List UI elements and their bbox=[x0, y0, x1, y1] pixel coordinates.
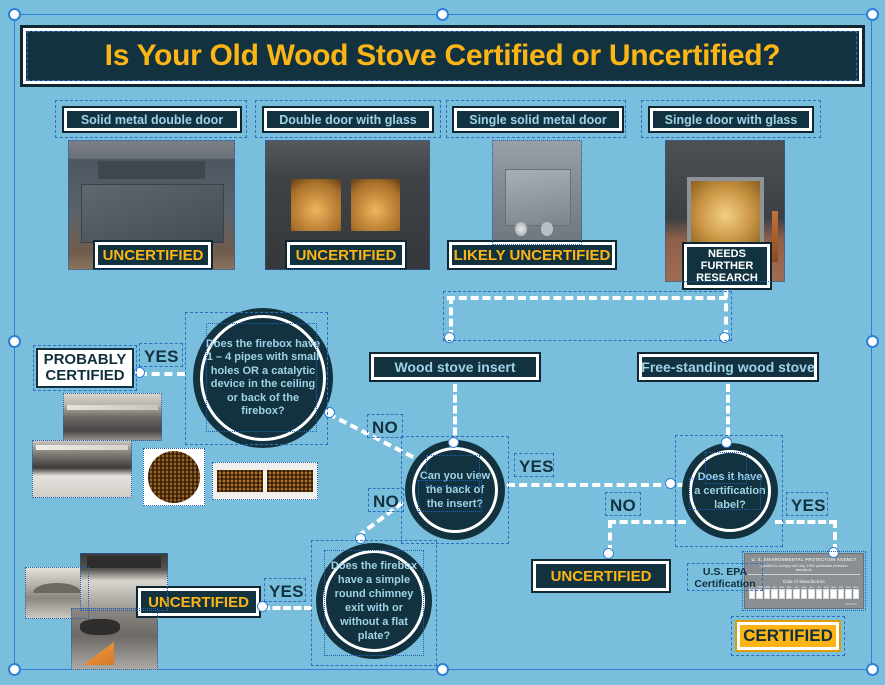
stove-card-header-1: Solid metal double door bbox=[62, 106, 242, 133]
epa-date-title: Date of Manufacture bbox=[745, 575, 863, 586]
epa-caption: U.S. EPA Certification bbox=[690, 566, 760, 590]
node-free-standing-stove: Free-standing wood stove bbox=[637, 352, 819, 382]
verdict-badge-2: UNCERTIFIED bbox=[285, 240, 407, 270]
firebox-photo-ceiling bbox=[63, 393, 162, 441]
question-chimney-exit: Does the firebox have a simple round chi… bbox=[316, 543, 432, 659]
selection-handle[interactable] bbox=[866, 335, 879, 348]
stove-card-header-4: Single door with glass bbox=[648, 106, 814, 133]
connector-node[interactable] bbox=[448, 437, 459, 448]
connector-node[interactable] bbox=[719, 332, 730, 343]
branch-label-firebox-no: NO bbox=[372, 418, 398, 438]
connector-research-left bbox=[447, 296, 727, 300]
outcome-uncertified-nolabel: UNCERTIFIED bbox=[531, 559, 671, 593]
branch-label-insert-no: NO bbox=[373, 492, 399, 512]
epa-agency-line: U. S. ENVIRONMENTAL PROTECTION AGENCY bbox=[745, 554, 863, 562]
verdict-badge-4: NEEDS FURTHER RESEARCH bbox=[682, 242, 772, 290]
outcome-certified: CERTIFIED bbox=[735, 620, 841, 652]
connector-node[interactable] bbox=[355, 533, 366, 544]
selection-handle[interactable] bbox=[436, 8, 449, 21]
selection-handle[interactable] bbox=[8, 663, 21, 676]
selection-handle[interactable] bbox=[866, 8, 879, 21]
question-view-back-insert: Can you view the back of the insert? bbox=[405, 440, 505, 540]
epa-month-cell: Feb bbox=[779, 586, 785, 599]
stove-photo-3 bbox=[492, 140, 582, 245]
connector-yes-probably bbox=[139, 372, 185, 376]
branch-label-cert-no: NO bbox=[610, 496, 636, 516]
epa-month-cell: Dec bbox=[853, 586, 859, 599]
selection-handle[interactable] bbox=[8, 8, 21, 21]
page-title-bar: Is Your Old Wood Stove Certified or Unce… bbox=[20, 25, 865, 87]
outcome-probably-certified: PROBABLY CERTIFIED bbox=[36, 348, 134, 388]
connector-chimney-yes bbox=[262, 606, 312, 610]
verdict-badge-1: UNCERTIFIED bbox=[93, 240, 213, 270]
epa-footer: PHASE II bbox=[745, 599, 863, 606]
stove-card-header-2: Double door with glass bbox=[262, 106, 434, 133]
epa-month-cell: Jul bbox=[816, 586, 822, 599]
connector-node[interactable] bbox=[665, 478, 676, 489]
epa-month-cell: Mar bbox=[786, 586, 792, 599]
connector-node[interactable] bbox=[134, 367, 145, 378]
epa-month-cell: May bbox=[801, 586, 807, 599]
epa-month-grid: 199319941995JanFebMarAprMayJunJulAugSepO… bbox=[745, 586, 863, 599]
epa-standard-line: Certified to comply with July, 1990 part… bbox=[748, 562, 860, 575]
verdict-badge-3: LIKELY UNCERTIFIED bbox=[447, 240, 617, 270]
firebox-photo-back bbox=[32, 440, 132, 498]
question-firebox-pipes: Does the firebox have 1 – 4 pipes with s… bbox=[193, 308, 333, 448]
infographic-canvas: Is Your Old Wood Stove Certified or Unce… bbox=[0, 0, 885, 685]
epa-month-cell: 1995 bbox=[764, 586, 770, 599]
branch-label-firebox-yes: YES bbox=[144, 347, 179, 367]
selection-handle[interactable] bbox=[436, 663, 449, 676]
connector-node[interactable] bbox=[444, 332, 455, 343]
connector-node[interactable] bbox=[828, 547, 839, 558]
connector-node[interactable] bbox=[721, 437, 732, 448]
branch-label-insert-yes: YES bbox=[519, 457, 554, 477]
epa-certification-label: U. S. ENVIRONMENTAL PROTECTION AGENCY Ce… bbox=[744, 553, 864, 609]
epa-month-cell: Jun bbox=[808, 586, 814, 599]
selection-handle[interactable] bbox=[866, 663, 879, 676]
connector-node[interactable] bbox=[324, 407, 335, 418]
outcome-uncertified-chimney: UNCERTIFIED bbox=[136, 586, 261, 618]
connector-node[interactable] bbox=[257, 601, 268, 612]
epa-month-cell: Jan bbox=[771, 586, 777, 599]
connector-cert-no-h bbox=[608, 520, 686, 524]
stove-card-header-3: Single solid metal door bbox=[452, 106, 624, 133]
node-wood-stove-insert: Wood stove insert bbox=[369, 352, 541, 382]
branch-label-cert-yes: YES bbox=[791, 496, 826, 516]
epa-month-cell: Nov bbox=[845, 586, 851, 599]
catalytic-round-photo bbox=[143, 448, 205, 506]
branch-label-chimney-yes: YES bbox=[269, 582, 304, 602]
page-title: Is Your Old Wood Stove Certified or Unce… bbox=[105, 39, 781, 73]
selection-handle[interactable] bbox=[8, 335, 21, 348]
epa-month-cell: Aug bbox=[823, 586, 829, 599]
connector-node[interactable] bbox=[603, 548, 614, 559]
question-certification-label: Does it have a certification label? bbox=[682, 443, 778, 539]
epa-month-cell: Oct bbox=[838, 586, 844, 599]
connector-cert-yes-h bbox=[775, 520, 837, 524]
catalytic-bar-photo bbox=[212, 462, 318, 500]
epa-month-cell: Apr bbox=[793, 586, 799, 599]
epa-month-cell: Sep bbox=[830, 586, 836, 599]
